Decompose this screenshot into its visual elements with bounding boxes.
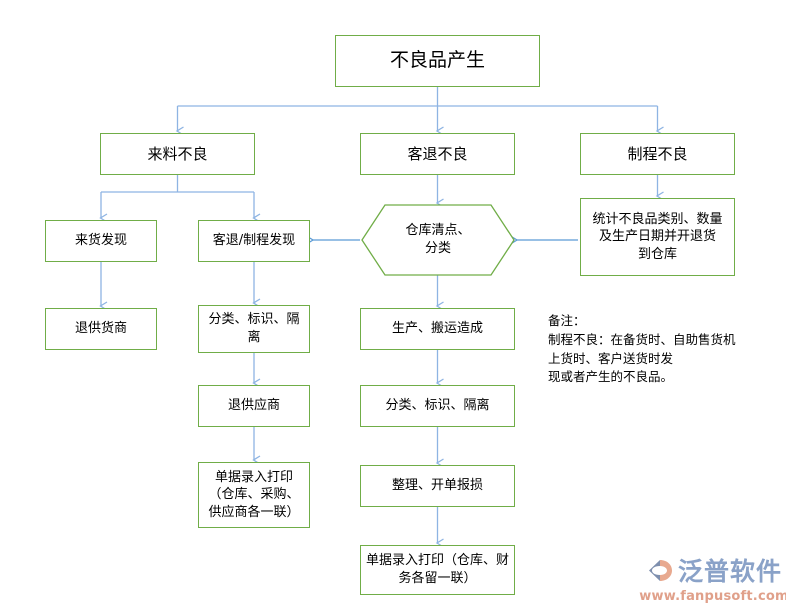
node-label: 整理、开单报损	[392, 477, 483, 495]
node-n12: 退供应商	[198, 385, 310, 427]
node-label: 分类、标识、隔离	[385, 397, 489, 415]
node-label: 客退/制程发现	[213, 232, 295, 250]
flowchart-connectors	[0, 0, 786, 614]
note-text: 备注： 制程不良：在备货时、自助售货机 上货时、客户送货时发 现或者产生的不良品…	[548, 312, 736, 387]
node-n15: 整理、开单报损	[360, 465, 515, 507]
node-n10: 分类、标识、隔 离	[198, 305, 310, 353]
node-label: 单据录入打印（仓库、财 务各留一联）	[366, 552, 509, 587]
node-n4: 制程不良	[580, 133, 735, 175]
node-label: 客退不良	[407, 144, 467, 164]
node-label: 来料不良	[147, 144, 207, 164]
node-n8: 统计不良品类别、数量 及生产日期并开退货 到仓库	[580, 198, 735, 276]
node-n3: 客退不良	[360, 133, 515, 175]
node-label: 来货发现	[75, 232, 127, 250]
node-label: 退供应商	[228, 397, 280, 415]
fanpu-mark-icon	[646, 557, 674, 584]
node-n6: 客退/制程发现	[198, 220, 310, 262]
logo-url-text: www.fanpusoft.com	[639, 589, 786, 604]
node-label: 统计不良品类别、数量 及生产日期并开退货 到仓库	[592, 211, 722, 264]
node-n13: 分类、标识、隔离	[360, 385, 515, 427]
node-n14: 单据录入打印 （仓库、采购、 供应商各一联）	[198, 462, 310, 528]
node-n5: 来货发现	[45, 220, 157, 262]
node-label: 单据录入打印 （仓库、采购、 供应商各一联）	[208, 469, 299, 522]
node-label: 仓库清点、 分类	[405, 222, 470, 257]
node-n16: 单据录入打印（仓库、财 务各留一联）	[360, 545, 515, 595]
node-label: 分类、标识、隔 离	[208, 311, 299, 346]
node-n2: 来料不良	[100, 133, 255, 175]
node-n1: 不良品产生	[335, 35, 540, 87]
node-label: 退供货商	[75, 320, 127, 338]
brand-watermark: 泛普软件 www.fanpusoft.com	[645, 550, 783, 606]
node-n7: 仓库清点、 分类	[362, 205, 514, 275]
node-label: 制程不良	[627, 144, 687, 164]
logo-brand-text: 泛普软件	[678, 552, 782, 588]
node-label: 生产、搬运造成	[392, 320, 483, 338]
node-n11: 生产、搬运造成	[360, 308, 515, 350]
node-label: 不良品产生	[390, 48, 485, 74]
logo-row: 泛普软件	[646, 552, 782, 588]
node-n9: 退供货商	[45, 308, 157, 350]
